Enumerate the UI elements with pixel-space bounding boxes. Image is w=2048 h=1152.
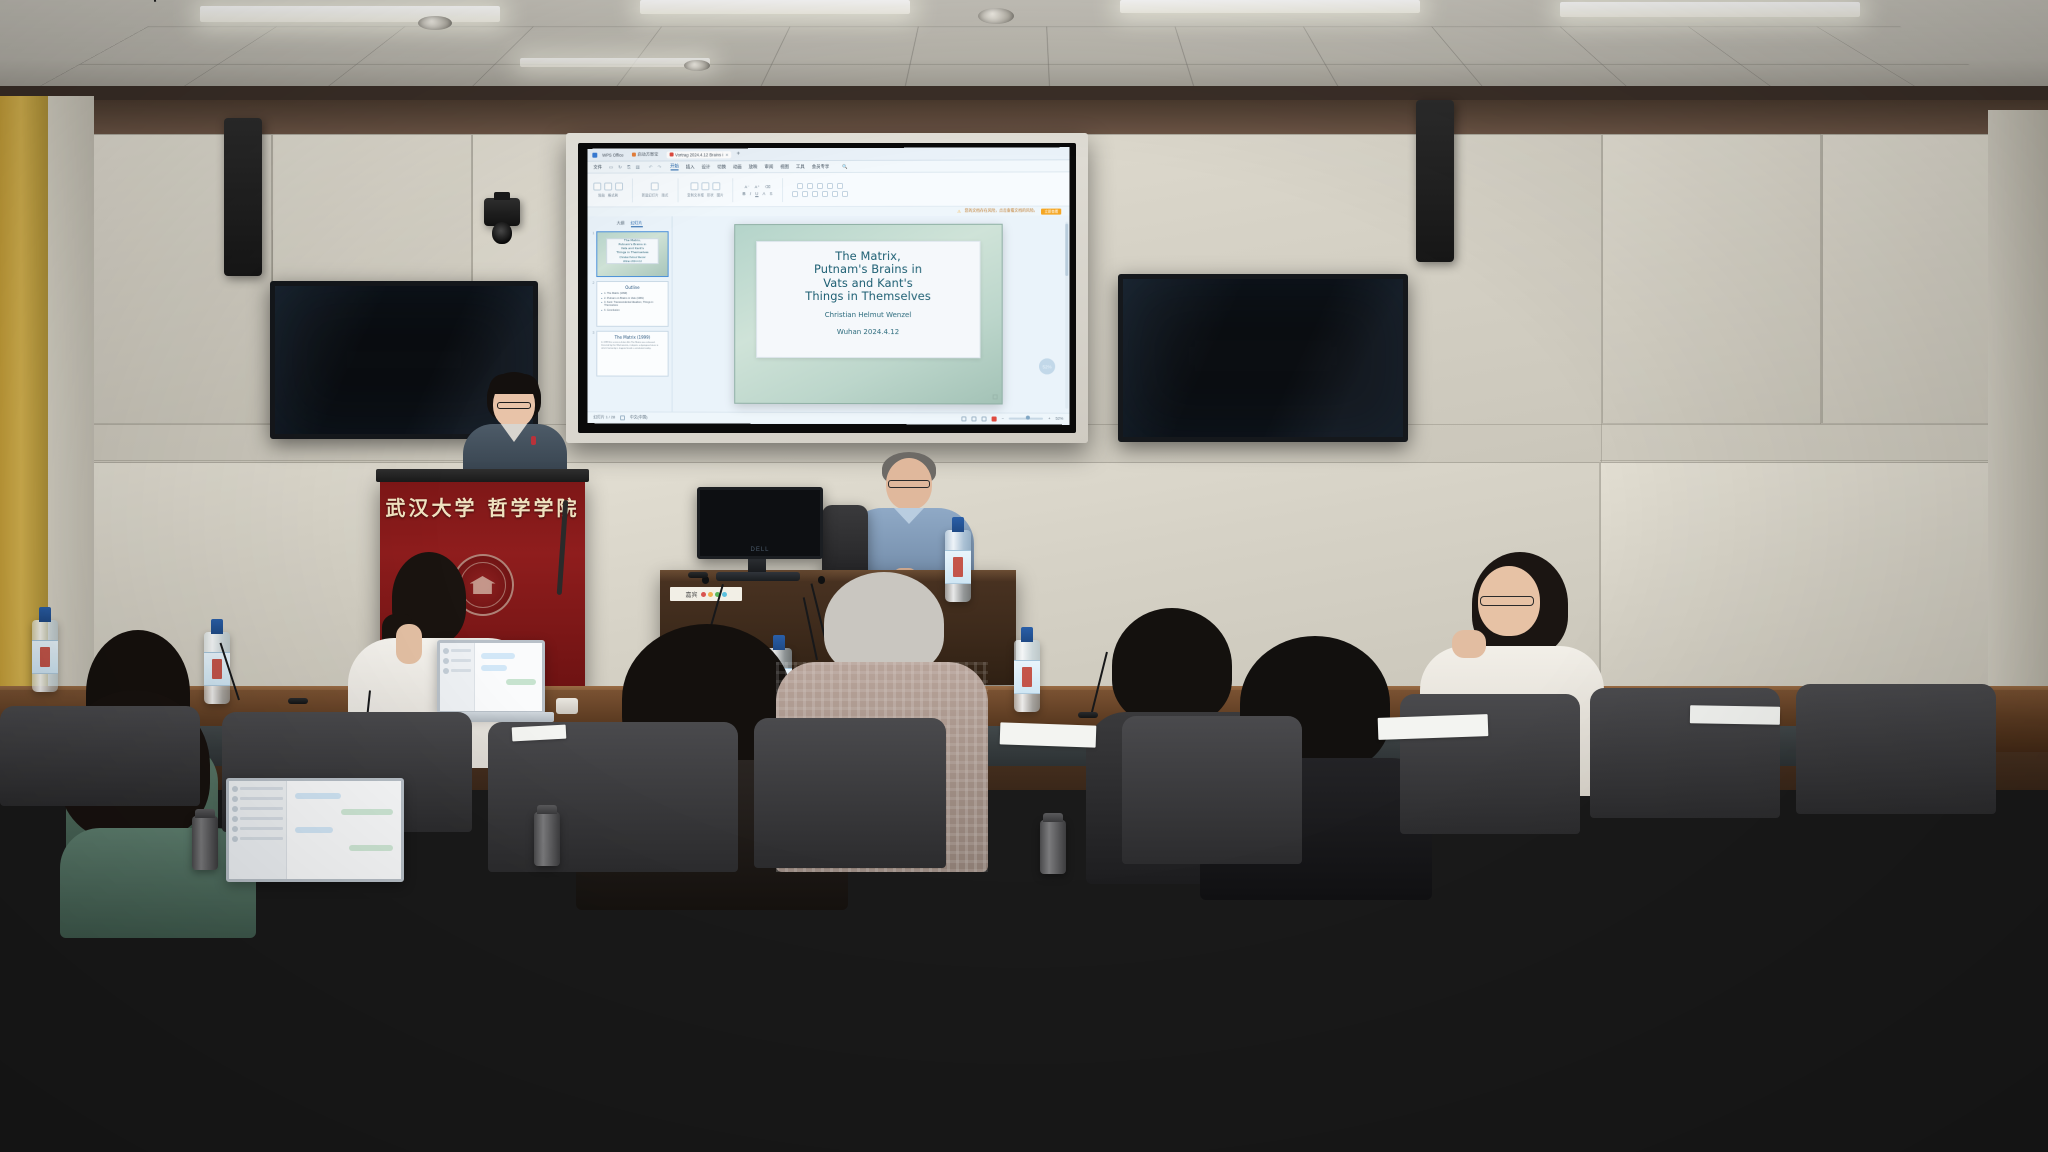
picture-icon[interactable]	[712, 182, 720, 190]
audience-7-hand	[1452, 630, 1486, 658]
new-tab-button[interactable]: +	[737, 151, 741, 157]
slide-author: Christian Helmut Wenzel	[825, 311, 912, 319]
indent-decrease-icon[interactable]	[817, 183, 823, 189]
language-indicator[interactable]: 中文(中国)	[630, 415, 648, 420]
dell-brand-label: DELL	[750, 547, 769, 553]
wall-panel-lower-right	[1600, 462, 2048, 702]
paper-2	[1000, 722, 1097, 747]
align-center-icon[interactable]	[802, 191, 808, 197]
thermos-3	[192, 816, 218, 870]
text-direction-icon[interactable]	[842, 190, 848, 196]
format-brush-label: 格式刷	[608, 192, 618, 197]
thumb-outline-bullet-4: 4. Conclusion	[601, 308, 663, 311]
align-right-icon[interactable]	[812, 191, 818, 197]
align-left-icon[interactable]	[792, 191, 798, 197]
chair-4	[754, 718, 946, 868]
indent-increase-icon[interactable]	[827, 182, 833, 188]
chair-8	[1796, 684, 1996, 814]
paste-icon[interactable]	[593, 183, 601, 191]
host-lapel-mic	[531, 436, 536, 445]
italic-button[interactable]: I	[750, 191, 751, 196]
new-slide-icon[interactable]	[651, 182, 659, 190]
laptop-front-sidebar[interactable]	[440, 643, 475, 711]
thumb-outline-bullet-3: 3. Kant: Transcendental Idealism, Things…	[601, 301, 663, 307]
thumbnail-canvas-1[interactable]: The Matrix, Putnam's Brains in Vats and …	[596, 231, 668, 277]
audience-4-hair	[824, 572, 944, 676]
columns-icon[interactable]	[832, 190, 838, 196]
desk-monitor: DELL	[697, 487, 823, 559]
status-bar-left: 幻灯片 1 / 28 中文(中国)	[593, 415, 647, 420]
play-icon[interactable]	[992, 416, 997, 421]
thumbnail-title-card-1: The Matrix, Putnam's Brains in Vats and …	[606, 238, 659, 263]
podium-institution-text: 武汉大学 哲学学院	[380, 492, 585, 521]
tablet-sidebar[interactable]	[229, 781, 287, 879]
menu-item-tools[interactable]: 工具	[796, 164, 805, 170]
toolbar-quick-icons[interactable]: ▭ ↻ ⎘ ▥	[609, 164, 642, 170]
status-bar-right[interactable]: − + 52%	[961, 416, 1063, 421]
thumb-outline-bullet-1: 1. The Matrix (1999)	[601, 292, 663, 295]
slide-date: Wuhan 2024.4.12	[837, 328, 899, 336]
laptop-front-left-ui[interactable]	[440, 643, 542, 711]
close-icon[interactable]: ✕	[725, 152, 728, 157]
textbox-icon[interactable]	[690, 182, 698, 190]
numbered-list-icon[interactable]	[807, 183, 813, 189]
zoom-percent[interactable]: 52%	[1056, 417, 1064, 421]
ribbon-group-slides[interactable]: 新建幻灯片 版式	[642, 182, 668, 197]
font-size-decrease-icon[interactable]: A⁻	[745, 184, 750, 189]
audience-2-arm	[396, 624, 422, 664]
zoom-out-icon[interactable]: −	[1002, 417, 1004, 421]
menu-item-insert[interactable]: 插入	[686, 164, 695, 170]
thumb-outline-bullet-2: 2. Putnam on Brains in Vats (1981)	[601, 296, 663, 299]
thumbnail-canvas-2[interactable]: Outline 1. The Matrix (1999) 2. Putnam o…	[596, 281, 668, 327]
wall-seam-2	[70, 460, 470, 461]
name-plate-dots	[701, 592, 727, 597]
paper-3	[1378, 714, 1489, 740]
clear-format-icon[interactable]: ⌫	[765, 184, 771, 189]
slide-editing-canvas[interactable]: The Matrix, Putnam's Brains in Vats and …	[673, 216, 1070, 413]
ribbon-divider-4	[782, 178, 783, 202]
thumb-outline-heading: Outline	[601, 285, 663, 290]
document-tab[interactable]: Vortrag 2024.4.12 Brains i ✕	[666, 151, 731, 158]
menu-item-animation[interactable]: 动画	[733, 164, 742, 170]
ribbon-divider-3	[732, 178, 733, 202]
ceiling	[0, 0, 2048, 108]
ceiling-light-5	[520, 58, 710, 67]
slide-title-line-3: Vats and Kant's	[823, 277, 913, 290]
document-tab-label: Vortrag 2024.4.12 Brains i	[675, 152, 723, 157]
menu-item-review[interactable]: 审阅	[764, 164, 773, 170]
cup-front	[556, 698, 578, 714]
bullet-list-icon[interactable]	[797, 183, 803, 189]
slide-title-line-2: Putnam's Brains in	[814, 263, 922, 277]
shape-label: 形状	[707, 192, 714, 197]
name-plate: 嘉宾	[670, 587, 742, 601]
quick-access-icon	[632, 153, 636, 157]
thumbnail-number-1: 1	[590, 231, 594, 277]
slide-title-card[interactable]: The Matrix, Putnam's Brains in Vats and …	[756, 241, 980, 359]
chair-5	[1122, 716, 1302, 864]
host-hair-front	[489, 374, 539, 394]
bottle-label-4	[1014, 660, 1040, 694]
thumbnail-content-body: The Matrix (1999) In 1999 the science-fi…	[597, 332, 667, 376]
thumb-author-1: Christian Helmut Wenzel	[619, 256, 645, 259]
mic-base-front-1	[288, 698, 308, 704]
wps-office-window[interactable]: WPS Office 启动方案宝 Vortrag 2024.4.12 Brain…	[587, 147, 1069, 425]
tablet-content[interactable]	[287, 781, 401, 879]
warning-triangle-icon: ⚠	[957, 209, 960, 214]
menu-item-file[interactable]: 文件	[593, 164, 602, 170]
picture-label: 图片	[717, 192, 724, 197]
ribbon-divider-2	[677, 178, 678, 202]
thumbnail-canvas-3[interactable]: The Matrix (1999) In 1999 the science-fi…	[596, 331, 668, 377]
wps-workspace: 大纲 幻灯片 1 The Matrix, Putnam's Brains in …	[587, 216, 1069, 413]
slide-counter: 幻灯片 1 / 28	[593, 415, 615, 420]
speaker-glasses	[888, 480, 930, 488]
thumbnail-outline-body: Outline 1. The Matrix (1999) 2. Putnam o…	[597, 282, 667, 326]
menu-item-member[interactable]: 会员专享	[812, 163, 830, 169]
menu-item-view[interactable]: 视图	[780, 164, 789, 170]
wall-panel-right-1	[1602, 134, 1822, 424]
ceiling-light-3	[1120, 0, 1420, 13]
shape-icon[interactable]	[701, 182, 709, 190]
laptop-front-left-screen[interactable]	[437, 640, 545, 714]
presentation-file-icon	[669, 152, 673, 156]
speaker-left	[224, 118, 262, 276]
ptz-camera-lens	[492, 222, 512, 244]
line-spacing-icon[interactable]	[837, 182, 843, 188]
canvas-scrollbar[interactable]	[1065, 222, 1068, 409]
lecture-room-scene: WPS Office 启动方案宝 Vortrag 2024.4.12 Brain…	[0, 0, 2048, 1152]
thumbnail-pane-tabs[interactable]: 大纲 幻灯片	[590, 220, 668, 227]
current-slide[interactable]: The Matrix, Putnam's Brains in Vats and …	[734, 224, 1002, 405]
tablet-foreground-ui[interactable]	[229, 781, 401, 879]
water-bottle-4	[1014, 640, 1040, 712]
layout-label: 版式	[662, 192, 669, 197]
underline-button[interactable]: U	[755, 191, 758, 196]
thumb-content-heading: The Matrix (1999)	[601, 335, 663, 340]
chair-1	[0, 706, 200, 806]
reading-view-icon[interactable]	[981, 416, 986, 421]
thumb-date-1: Wuhan 2024.4.12	[623, 260, 642, 263]
quick-access-tab[interactable]: 启动方案宝	[629, 151, 662, 159]
wps-status-bar: 幻灯片 1 / 28 中文(中国) − + 52%	[587, 411, 1069, 423]
paper-1	[512, 725, 567, 742]
strikethrough-button[interactable]: S	[770, 191, 773, 196]
podium-desktop	[376, 469, 589, 482]
tab-slides[interactable]: 幻灯片	[630, 220, 642, 227]
mic-base-head-1	[688, 572, 708, 578]
wps-app-name: WPS Office	[602, 152, 623, 157]
cut-icon[interactable]	[604, 183, 612, 191]
ribbon-group-font[interactable]: A⁻ A⁺ ⌫ B I U A S	[742, 184, 772, 196]
wps-ribbon[interactable]: 粘贴 格式刷 新建幻灯片 版式	[587, 172, 1069, 207]
paper-4	[1690, 705, 1780, 725]
zoom-level-badge[interactable]: 52%	[1039, 358, 1055, 374]
ceiling-light-1	[200, 6, 500, 22]
slide-thumbnail-pane[interactable]: 大纲 幻灯片 1 The Matrix, Putnam's Brains in …	[587, 216, 672, 411]
ribbon-divider-1	[632, 178, 633, 202]
thumbnail-slide-1[interactable]: 1 The Matrix, Putnam's Brains in Vats an…	[590, 231, 668, 277]
thumbnail-number-2: 2	[590, 281, 594, 327]
ceiling-vent-2	[978, 8, 1014, 24]
laptop-front-content[interactable]	[475, 643, 542, 711]
ceiling-light-2	[640, 0, 910, 14]
paste-label: 粘贴	[598, 192, 605, 197]
copy-icon[interactable]	[615, 182, 623, 190]
menu-item-transition[interactable]: 切换	[717, 164, 726, 170]
new-slide-label: 新建幻灯片	[642, 192, 659, 197]
wall-upper-trim	[0, 100, 2048, 134]
thermos-2	[1040, 820, 1066, 874]
wps-logo-icon	[592, 152, 597, 157]
thumb-content-paragraph: In 1999 the science-fiction film The Mat…	[601, 342, 663, 350]
wall-tv-right	[1118, 274, 1408, 442]
thermos-1	[534, 812, 560, 866]
warning-action-button[interactable]: 立即查看	[1041, 208, 1061, 214]
zoom-slider[interactable]	[1009, 418, 1043, 420]
warning-text: 您的文档存在风险，点击查看文档的风险。	[965, 209, 1038, 214]
speaker-right	[1416, 100, 1454, 262]
wall-seam-3	[1600, 460, 2048, 461]
ceiling-vent-3	[684, 60, 710, 71]
thumb-title-line-4: Things in Themselves	[616, 251, 648, 254]
slide-resize-handle[interactable]	[993, 394, 998, 399]
menu-item-slideshow[interactable]: 放映	[749, 164, 758, 170]
ceiling-light-4	[1560, 2, 1860, 17]
ribbon-group-clipboard[interactable]: 粘贴 格式刷	[593, 182, 623, 197]
chair-6	[1400, 694, 1580, 834]
host-glasses	[497, 402, 531, 409]
sorter-view-icon[interactable]	[971, 416, 976, 421]
toolbar-undo-redo[interactable]: ↶ ↷	[649, 164, 663, 170]
bottle-label-1	[32, 640, 58, 674]
thumbnail-slide-2[interactable]: 2 Outline 1. The Matrix (1999) 2. Putnam…	[590, 281, 668, 327]
tablet-foreground[interactable]	[226, 778, 404, 882]
audience-7-glasses	[1480, 596, 1534, 606]
normal-view-icon[interactable]	[961, 416, 966, 421]
font-color-button[interactable]: A	[763, 191, 766, 196]
ceiling-vent-1	[418, 16, 452, 30]
tab-outline[interactable]: 大纲	[617, 220, 625, 227]
ribbon-group-paragraph[interactable]	[792, 182, 848, 196]
textbox-label: 复制文本框	[687, 192, 704, 197]
align-justify-icon[interactable]	[822, 190, 828, 196]
thumbnail-slide-3[interactable]: 3 The Matrix (1999) In 1999 the science-…	[590, 331, 668, 377]
menu-item-design[interactable]: 设计	[702, 164, 711, 170]
name-plate-text: 嘉宾	[685, 590, 697, 599]
wall-seam-v-2	[1820, 134, 1821, 424]
ribbon-group-objects[interactable]: 复制文本框 形状 图片	[687, 182, 723, 197]
spellcheck-icon[interactable]	[620, 415, 625, 420]
zoom-in-icon[interactable]: +	[1048, 417, 1050, 421]
chair-3	[488, 722, 738, 872]
menu-item-home[interactable]: 开始	[670, 163, 679, 170]
font-size-increase-icon[interactable]: A⁺	[755, 184, 760, 189]
bold-button[interactable]: B	[742, 191, 745, 196]
water-bottle-1	[32, 620, 58, 692]
thumbnail-number-3: 3	[590, 331, 594, 377]
search-icon[interactable]: 🔍	[842, 163, 847, 169]
slide-title-line-4: Things in Themselves	[805, 290, 931, 303]
quick-access-label: 启动方案宝	[637, 152, 658, 158]
side-wall-right-panel	[1988, 110, 2048, 730]
ptz-camera-bracket	[494, 192, 510, 200]
